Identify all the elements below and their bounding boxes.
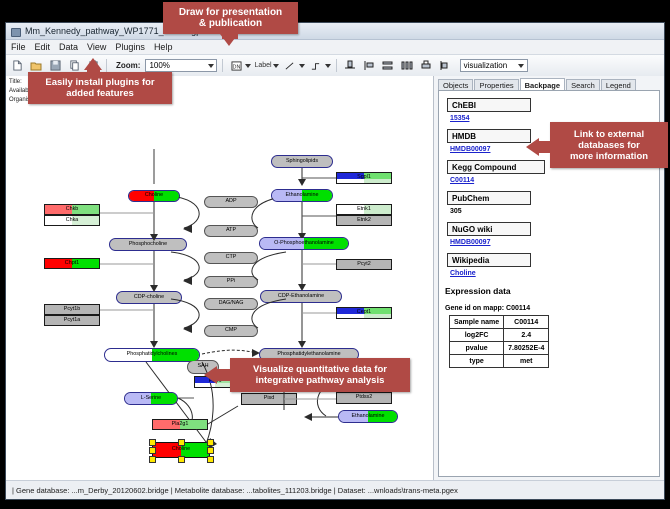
node-label: Pcyt2: [357, 262, 370, 267]
backpage-link-chebi[interactable]: 15354: [450, 115, 659, 122]
label-tool-label: Label: [254, 62, 271, 69]
node-label: Phosphocholine: [129, 242, 167, 247]
table-row: pvalue 7.80252E-4: [450, 342, 549, 355]
node-label: Ethanolamine: [352, 414, 385, 419]
callout-easily-install-plugins: Easily install plugins for added feature…: [28, 72, 172, 104]
app-icon: [10, 26, 21, 37]
table-cell-value: C00114: [504, 316, 549, 329]
table-cell-value: 7.80252E-4: [504, 342, 549, 355]
node-label: Phosphatidylcholines: [127, 352, 178, 357]
callout-arrow-stem: [538, 141, 552, 153]
svg-text:DN: DN: [233, 64, 241, 70]
node-label: CTP: [226, 255, 237, 260]
pathway-canvas[interactable]: Title: Availability: Organism:: [6, 76, 434, 481]
status-bar: | Gene database: ...m_Derby_20120602.bri…: [6, 480, 664, 499]
selection-handle[interactable]: [207, 439, 214, 446]
backpage-link-nugo[interactable]: HMDB00097: [450, 239, 659, 246]
node-ethanolamine-top[interactable]: Ethanolamine: [271, 189, 333, 202]
menu-item-file[interactable]: File: [11, 42, 26, 52]
node-pla2g1[interactable]: Pla2g1: [152, 419, 208, 430]
table-cell-key: log2FC: [450, 329, 504, 342]
node-label: CDP-Ethanolamine: [278, 294, 324, 299]
selection-handle[interactable]: [207, 456, 214, 463]
node-label: Ptdss2: [356, 395, 372, 400]
node-label: Chka: [66, 218, 79, 223]
selection-handle[interactable]: [207, 447, 214, 454]
expression-data-title: Expression data: [445, 286, 659, 296]
node-l-serine-left[interactable]: L-Serine: [124, 392, 178, 405]
table-cell-key: type: [450, 355, 504, 368]
selection-handle[interactable]: [149, 447, 156, 454]
chevron-down-icon: [325, 64, 331, 68]
node-etnk1[interactable]: Etnk1: [336, 204, 392, 215]
node-label: Etnk1: [357, 207, 371, 212]
table-row: log2FC 2.4: [450, 329, 549, 342]
menu-bar: File Edit Data View Plugins Help: [6, 40, 664, 55]
node-chka[interactable]: Chka: [44, 215, 100, 226]
screenshot-root: Mm_Kennedy_pathway_WP1771_45176.gpml Fil…: [0, 0, 670, 509]
backpage-value-pubchem: 305: [450, 208, 659, 215]
zoom-combobox[interactable]: 100%: [145, 59, 217, 72]
node-label: DAG/NAG: [219, 301, 244, 306]
node-label: Choline: [172, 447, 190, 452]
node-label: Pisd: [264, 396, 275, 401]
node-label: L-Serine: [141, 396, 161, 401]
menu-item-view[interactable]: View: [87, 42, 106, 52]
order-icon[interactable]: [437, 58, 453, 74]
node-label: Cept1: [357, 310, 371, 315]
title-bar: Mm_Kennedy_pathway_WP1771_45176.gpml: [6, 23, 664, 40]
node-label: Pcyt1b: [64, 307, 80, 312]
backpage-section-hmdb-header: HMDB: [447, 129, 531, 143]
backpage-section-wikipedia-header: Wikipedia: [447, 253, 531, 267]
stack-icon[interactable]: [380, 58, 396, 74]
callout-arrow-stem: [87, 68, 100, 74]
chevron-down-icon: [518, 64, 524, 68]
backpage-link-kegg[interactable]: C00114: [450, 177, 659, 184]
selection-handle[interactable]: [178, 439, 185, 446]
label-tool-dropdown[interactable]: Label: [254, 62, 278, 69]
status-bar-text: | Gene database: ...m_Derby_20120602.bri…: [6, 486, 458, 495]
toolbar-separator: [106, 59, 107, 72]
datanode-tool-dropdown[interactable]: DN: [228, 58, 251, 74]
node-label: O-Phosphoethanolamine: [274, 241, 334, 246]
callout-arrow-stem: [216, 369, 232, 381]
distribute-icon[interactable]: [399, 58, 415, 74]
visualization-value: visualization: [464, 61, 508, 70]
callout-draw-for-publication: Draw for presentation & publication: [163, 2, 298, 34]
chevron-down-icon: [273, 64, 279, 68]
gene-id-line: Gene id on mapp: C00114: [445, 305, 659, 312]
node-label: PPi: [227, 279, 235, 284]
node-label: Etnk2: [357, 218, 371, 223]
backpage-link-wikipedia[interactable]: Choline: [450, 270, 659, 277]
node-label: ATP: [226, 228, 236, 233]
chevron-down-icon: [299, 64, 305, 68]
backpage-section-kegg-header: Kegg Compound: [447, 160, 545, 174]
backpage-section-chebi-header: ChEBI: [447, 98, 531, 112]
expression-data-table: Sample name C00114 log2FC 2.4 pvalue 7.8…: [449, 315, 549, 368]
selection-handle[interactable]: [149, 439, 156, 446]
align-top-icon[interactable]: [342, 58, 358, 74]
table-row: Sample name C00114: [450, 316, 549, 329]
node-label: Sphingolipids: [286, 159, 318, 164]
print-icon[interactable]: [418, 58, 434, 74]
callout-arrow-stem: [222, 33, 238, 39]
table-cell-value: met: [504, 355, 549, 368]
new-file-icon[interactable]: [9, 58, 25, 74]
backpage-section-pubchem-header: PubChem: [447, 191, 531, 205]
line-tool-dropdown[interactable]: [282, 58, 305, 74]
node-chkb[interactable]: Chkb: [44, 204, 100, 215]
line-icon[interactable]: [282, 58, 298, 74]
node-label: Pcyt1a: [64, 318, 80, 323]
menu-item-data[interactable]: Data: [59, 42, 78, 52]
node-label: Choline: [145, 193, 163, 198]
table-cell-value: 2.4: [504, 329, 549, 342]
connector-tool-dropdown[interactable]: [308, 58, 331, 74]
selection-handle[interactable]: [178, 456, 185, 463]
align-left-icon[interactable]: [361, 58, 377, 74]
node-ethanolamine-bottom[interactable]: Ethanolamine: [338, 410, 398, 423]
backpage-section-nugo-header: NuGO wiki: [447, 222, 531, 236]
visualization-combobox[interactable]: visualization: [460, 59, 528, 72]
node-chpt1[interactable]: Chpt1: [44, 258, 100, 269]
node-choline-top[interactable]: Choline: [128, 190, 180, 202]
node-label: Pla2g1: [172, 422, 189, 427]
selection-handle[interactable]: [149, 456, 156, 463]
zoom-label: Zoom:: [116, 61, 140, 70]
zoom-value: 100%: [149, 61, 169, 70]
datanode-icon[interactable]: DN: [228, 58, 244, 74]
menu-item-help[interactable]: Help: [154, 42, 173, 52]
connector-icon[interactable]: [308, 58, 324, 74]
node-label: CMP: [225, 328, 237, 333]
menu-item-plugins[interactable]: Plugins: [115, 42, 145, 52]
node-label: Chkb: [66, 207, 79, 212]
callout-link-external-databases: Link to external databases for more info…: [550, 122, 668, 168]
menu-item-edit[interactable]: Edit: [35, 42, 51, 52]
node-label: Chpt1: [65, 261, 79, 266]
chevron-down-icon: [245, 64, 251, 68]
table-cell-key: pvalue: [450, 342, 504, 355]
node-label: Ethanolamine: [286, 193, 319, 198]
node-label: ADP: [225, 199, 236, 204]
toolbar-separator: [222, 59, 223, 72]
callout-visualize-quantitative-data: Visualize quantitative data for integrat…: [230, 358, 410, 392]
toolbar-separator: [336, 59, 337, 72]
chevron-down-icon: [208, 64, 214, 68]
node-label: Sgpl1: [357, 175, 371, 180]
node-o-phosphoethanolamine[interactable]: O-Phosphoethanolamine: [259, 237, 349, 250]
node-label: CDP-choline: [134, 295, 164, 300]
table-row: type met: [450, 355, 549, 368]
table-cell-key: Sample name: [450, 316, 504, 329]
node-label: Phosphatidylethanolamine: [277, 352, 340, 357]
